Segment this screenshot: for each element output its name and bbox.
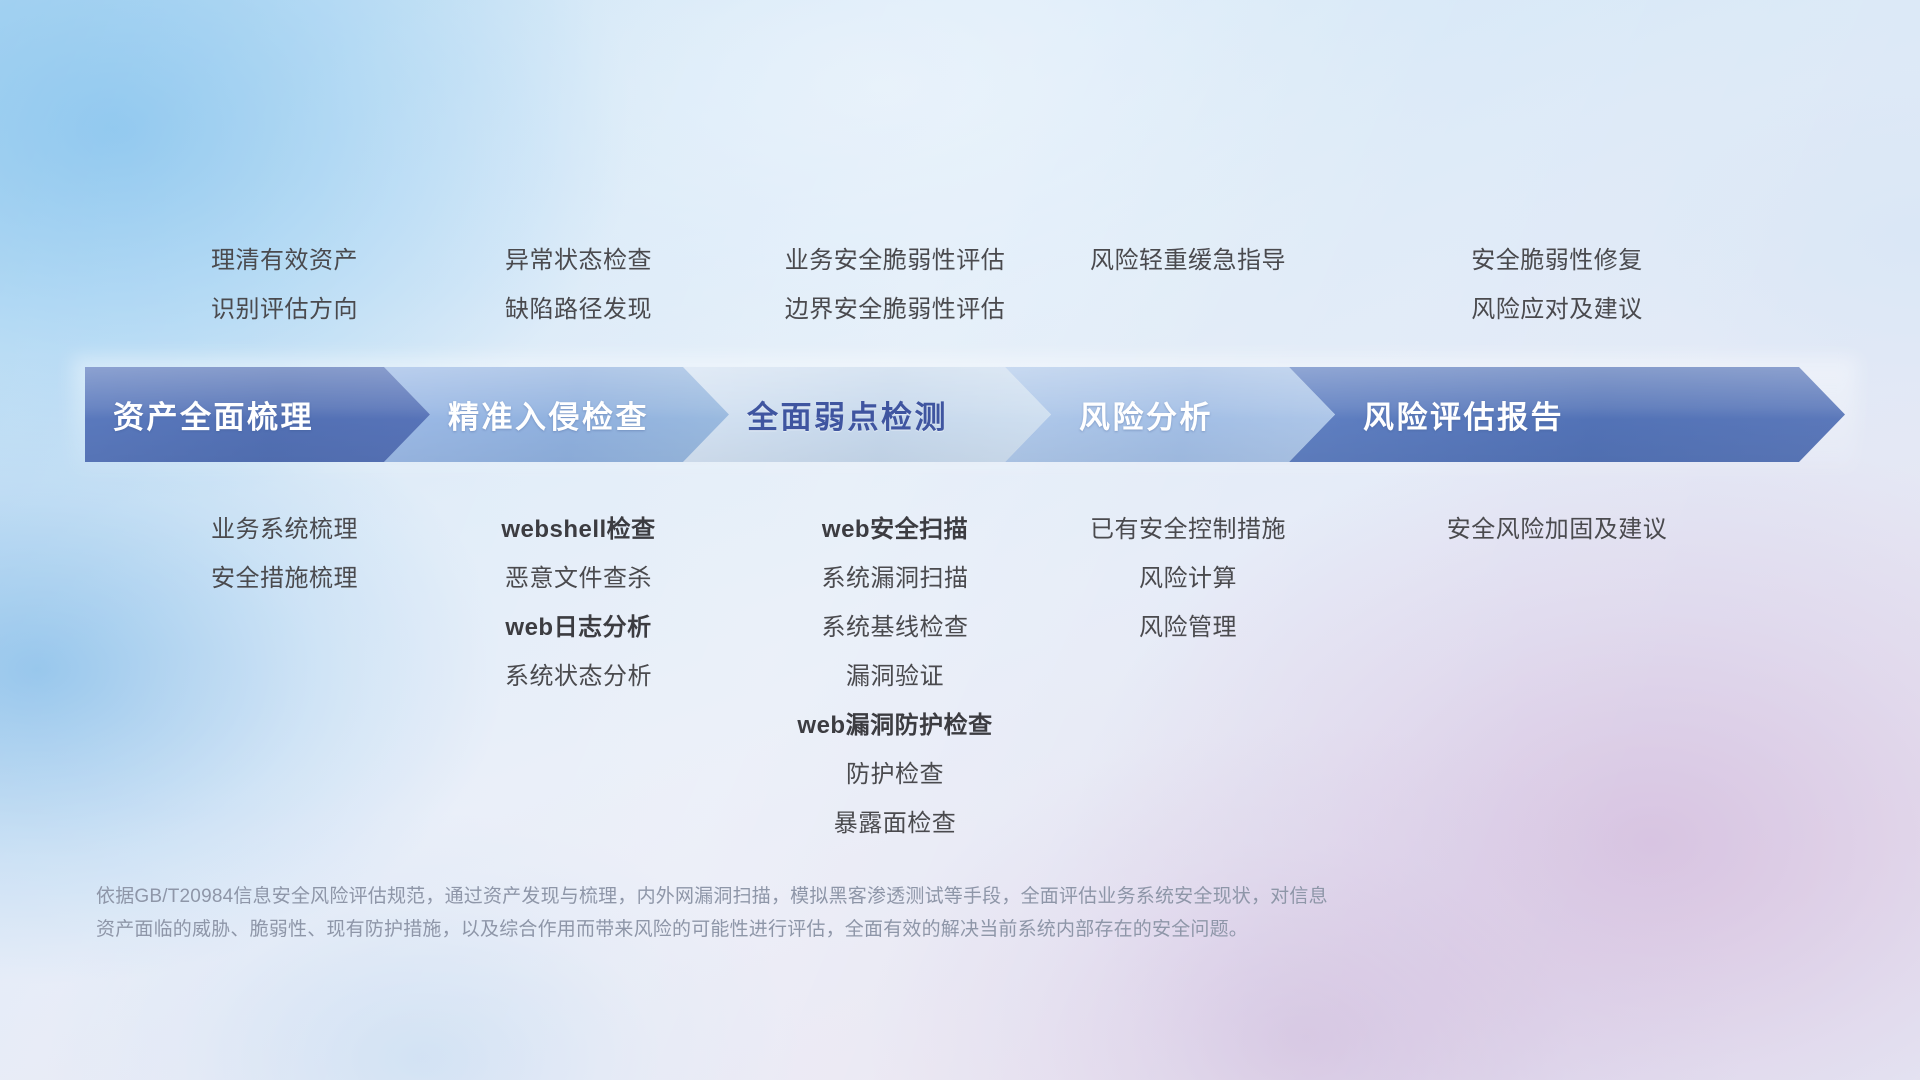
bottom-item: 漏洞验证	[846, 652, 944, 701]
process-step-intrusion-check[interactable]: 精准入侵检查	[384, 367, 729, 462]
process-step-weakness-detection[interactable]: 全面弱点检测	[683, 367, 1051, 462]
bottom-item: web漏洞防护检查	[797, 701, 992, 750]
top-item-lists: 理清有效资产 识别评估方向 异常状态检查 缺陷路径发现 业务安全脆弱性评估 边界…	[0, 236, 1920, 356]
process-step-risk-analysis[interactable]: 风险分析	[1005, 367, 1335, 462]
process-step-label: 风险评估报告	[1363, 392, 1564, 437]
process-step-label: 资产全面梳理	[113, 392, 314, 437]
bottom-item: 风险计算	[1139, 554, 1237, 603]
top-item: 风险应对及建议	[1471, 285, 1643, 334]
bottom-item: 安全风险加固及建议	[1447, 505, 1668, 554]
bottom-item: 风险管理	[1139, 603, 1237, 652]
process-chevron-band: 资产全面梳理 精准入侵检查 全面弱点检测 风险分析 风险评估报告	[85, 367, 1845, 462]
footer-line: 资产面临的威胁、脆弱性、现有防护措施，以及综合作用而带来风险的可能性进行评估，全…	[96, 913, 1656, 946]
bottom-list-stage-5: 安全风险加固及建议	[30, 505, 1920, 554]
bottom-item: 防护检查	[846, 750, 944, 799]
footer-description: 依据GB/T20984信息安全风险评估规范，通过资产发现与梳理，内外网漏洞扫描，…	[96, 880, 1656, 946]
slide-canvas: 理清有效资产 识别评估方向 异常状态检查 缺陷路径发现 业务安全脆弱性评估 边界…	[0, 0, 1920, 1080]
top-item: 安全脆弱性修复	[1471, 236, 1643, 285]
process-step-risk-report[interactable]: 风险评估报告	[1289, 367, 1845, 462]
bottom-item: 暴露面检查	[834, 799, 957, 848]
process-step-asset-inventory[interactable]: 资产全面梳理	[85, 367, 430, 462]
process-step-label: 风险分析	[1079, 392, 1213, 437]
process-step-label: 精准入侵检查	[448, 392, 649, 437]
footer-line: 依据GB/T20984信息安全风险评估规范，通过资产发现与梳理，内外网漏洞扫描，…	[96, 880, 1656, 913]
top-list-stage-5: 安全脆弱性修复 风险应对及建议	[30, 236, 1920, 334]
process-step-label: 全面弱点检测	[747, 392, 948, 437]
